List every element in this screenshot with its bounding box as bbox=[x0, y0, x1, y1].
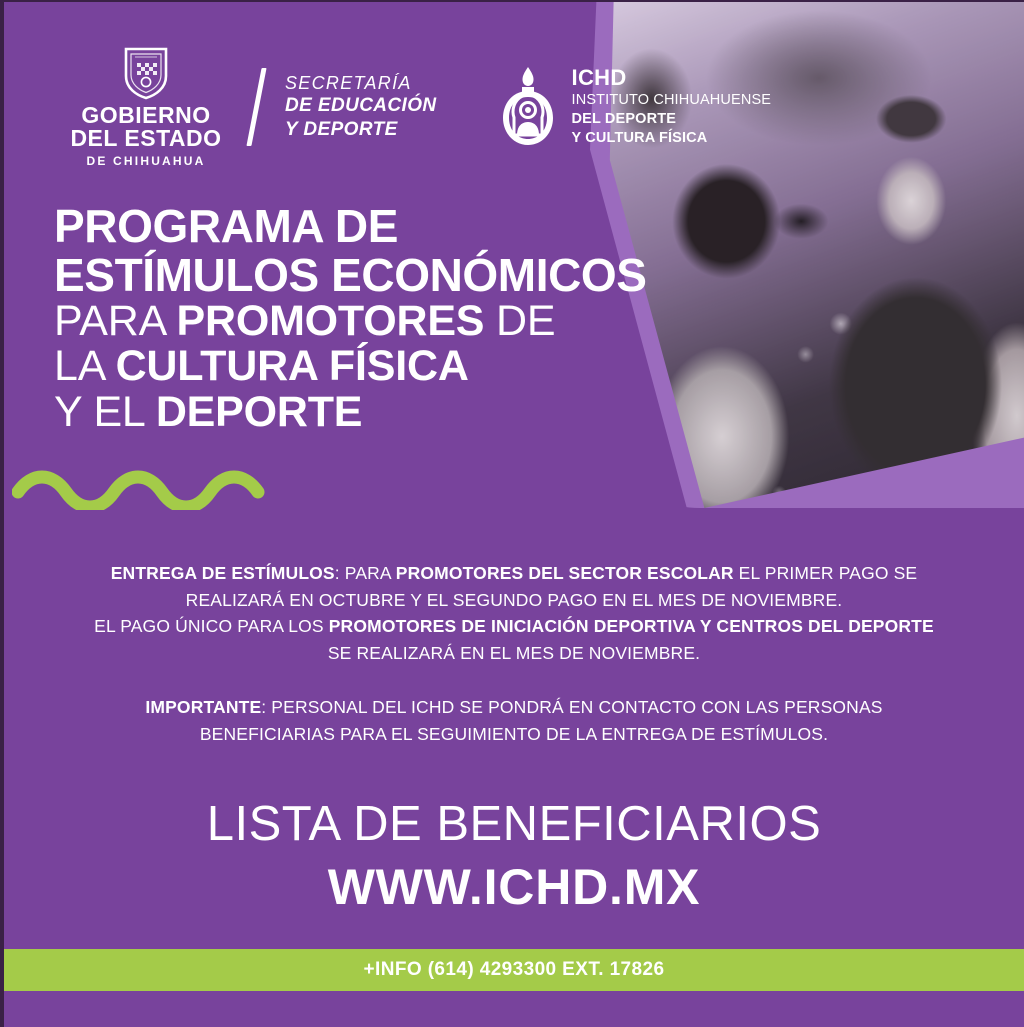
paragraph-importante: IMPORTANTE: PERSONAL DEL ICHD SE PONDRÁ … bbox=[4, 694, 1024, 747]
p1-line-1-a: : PARA bbox=[335, 563, 396, 583]
p2-label: IMPORTANTE bbox=[145, 697, 261, 717]
gobierno-line-3: DE CHIHUAHUA bbox=[86, 154, 205, 168]
p1-line-1-b: PROMOTORES DEL SECTOR ESCOLAR bbox=[396, 563, 734, 583]
headline-line-4-b: CULTURA FÍSICA bbox=[116, 342, 469, 390]
headline-line-5: Y EL DEPORTE bbox=[54, 390, 674, 435]
cta-block: LISTA DE BENEFICIARIOS WWW.ICHD.MX bbox=[4, 797, 1024, 917]
footer-contact-bar: +INFO (614) 4293300 EXT. 17826 bbox=[4, 949, 1024, 991]
cta-website-url[interactable]: WWW.ICHD.MX bbox=[4, 858, 1024, 917]
secretaria-line-1: SECRETARÍA bbox=[285, 72, 437, 95]
ichd-line-1: INSTITUTO CHIHUAHUENSE bbox=[572, 91, 772, 110]
p2-line-2: BENEFICIARIAS PARA EL SEGUIMIENTO DE LA … bbox=[4, 721, 1024, 748]
p1-line-4: SE REALIZARÁ EN EL MES DE NOVIEMBRE. bbox=[4, 640, 1024, 667]
logo-divider-slash bbox=[246, 68, 266, 146]
cta-lista-label: LISTA DE BENEFICIARIOS bbox=[4, 797, 1024, 852]
p1-label: ENTREGA DE ESTÍMULOS bbox=[111, 563, 335, 583]
headline-line-4: LA CULTURA FÍSICA bbox=[54, 344, 674, 389]
headline-line-4-a: LA bbox=[54, 342, 116, 390]
headline-block: PROGRAMA DE ESTÍMULOS ECONÓMICOS PARA PR… bbox=[54, 202, 674, 435]
ichd-text-block: ICHD INSTITUTO CHIHUAHUENSE DEL DEPORTE … bbox=[572, 66, 772, 147]
headline-line-5-b: DEPORTE bbox=[156, 388, 362, 436]
p1-line-3: EL PAGO ÚNICO PARA LOS PROMOTORES DE INI… bbox=[4, 613, 1024, 640]
ichd-line-3: Y CULTURA FÍSICA bbox=[572, 129, 772, 148]
p1-line-3-b: PROMOTORES DE INICIACIÓN DEPORTIVA Y CEN… bbox=[329, 616, 934, 636]
logo-ichd: ICHD INSTITUTO CHIHUAHUENSE DEL DEPORTE … bbox=[497, 65, 772, 149]
logo-row: GOBIERNO DEL ESTADO DE CHIHUAHUA SECRETA… bbox=[60, 46, 771, 168]
headline-line-3-a: PARA bbox=[54, 297, 176, 345]
footer-contact-text: +INFO (614) 4293300 EXT. 17826 bbox=[364, 959, 665, 981]
poster-canvas: GOBIERNO DEL ESTADO DE CHIHUAHUA SECRETA… bbox=[0, 0, 1024, 1027]
ichd-acronym: ICHD bbox=[572, 66, 772, 91]
headline-line-3-b: PROMOTORES bbox=[176, 297, 484, 345]
p2-line-1: IMPORTANTE: PERSONAL DEL ICHD SE PONDRÁ … bbox=[4, 694, 1024, 721]
secretaria-line-3: Y DEPORTE bbox=[285, 118, 437, 142]
ichd-line-2: DEL DEPORTE bbox=[572, 110, 772, 129]
headline-line-2: ESTÍMULOS ECONÓMICOS bbox=[54, 251, 674, 300]
headline-line-1: PROGRAMA DE bbox=[54, 202, 674, 251]
headline-line-3: PARA PROMOTORES DE bbox=[54, 299, 674, 344]
p1-line-2: REALIZARÁ EN OCTUBRE Y EL SEGUNDO PAGO E… bbox=[4, 587, 1024, 614]
headline-line-3-c: DE bbox=[484, 297, 555, 345]
chihuahua-shield-icon bbox=[124, 46, 168, 100]
gobierno-line-2: DEL ESTADO bbox=[70, 127, 221, 150]
paragraph-entrega-de-estimulos: ENTREGA DE ESTÍMULOS: PARA PROMOTORES DE… bbox=[4, 560, 1024, 666]
logo-gobierno-del-estado: GOBIERNO DEL ESTADO DE CHIHUAHUA bbox=[60, 46, 232, 168]
gobierno-line-1: GOBIERNO bbox=[81, 104, 210, 127]
headline-line-5-a: Y EL bbox=[54, 388, 156, 436]
logo-secretaria: SECRETARÍA DE EDUCACIÓN Y DEPORTE bbox=[285, 72, 437, 143]
p1-line-1: ENTREGA DE ESTÍMULOS: PARA PROMOTORES DE… bbox=[4, 560, 1024, 587]
ichd-torch-figure-icon bbox=[497, 65, 559, 149]
green-wave-divider-icon bbox=[12, 466, 272, 510]
p1-line-3-a: EL PAGO ÚNICO PARA LOS bbox=[94, 616, 329, 636]
p1-line-1-c: EL PRIMER PAGO SE bbox=[734, 563, 918, 583]
secretaria-line-2: DE EDUCACIÓN bbox=[285, 94, 437, 118]
p2-line-1-text: : PERSONAL DEL ICHD SE PONDRÁ EN CONTACT… bbox=[261, 697, 882, 717]
